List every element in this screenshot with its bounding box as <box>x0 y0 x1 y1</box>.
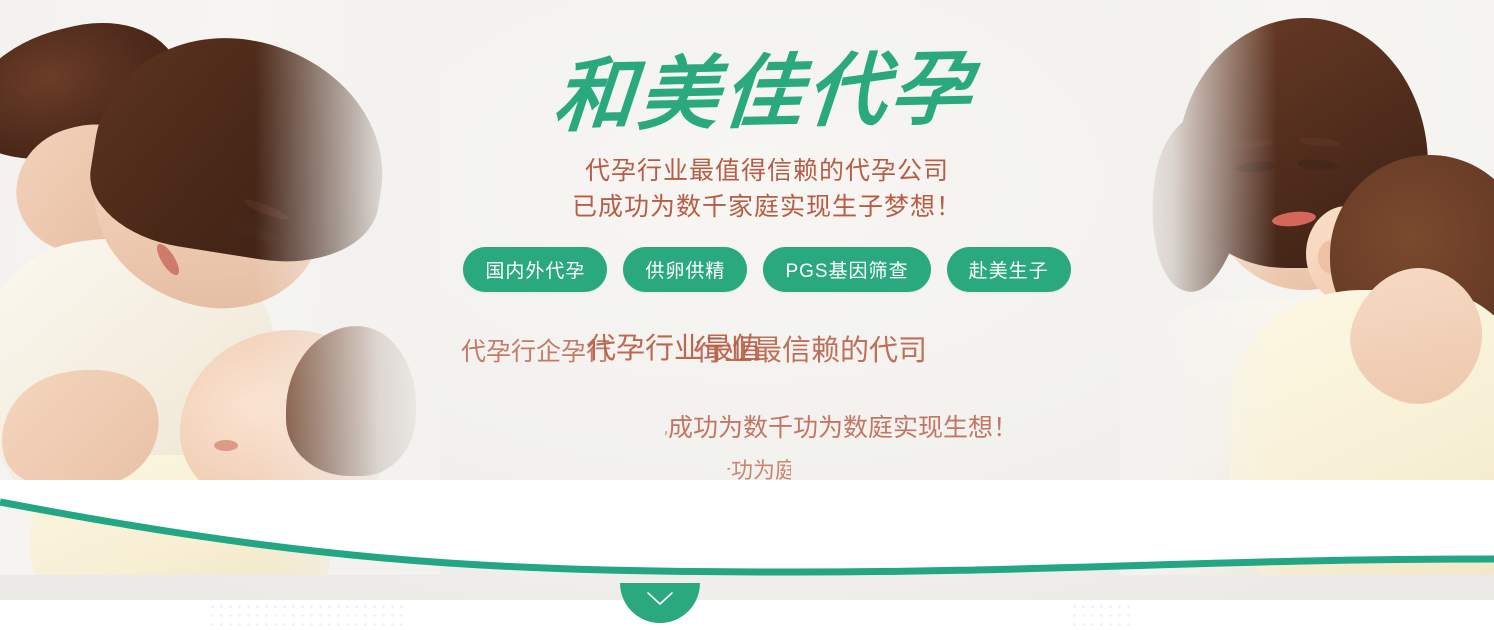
dot-pattern-right <box>1070 584 1132 630</box>
pill-egg-sperm-donation[interactable]: 供卵供精 <box>623 247 747 292</box>
chevron-down-icon <box>646 590 674 608</box>
pill-pgs-genetic-screening[interactable]: PGS基因筛查 <box>763 247 930 292</box>
ghost-text-row-1: 代孕行企孕行 <box>461 336 611 370</box>
hero-banner: 和美佳代孕 代孕行业最值得信赖的代孕公司 已成功为数千家庭实现生子梦想！ 国内外… <box>0 0 1494 630</box>
page-title: 和美佳代孕 <box>441 0 1093 139</box>
tagline-line-1: 代孕行业最值得信赖的代孕公司 <box>447 154 1087 190</box>
pill-us-birth[interactable]: 赴美生子 <box>947 247 1071 292</box>
ghost-text-row-4: 已成功为数千功为数庭实现生想！ <box>643 412 1018 446</box>
tagline: 代孕行业最值得信赖的代孕公司 已成功为数千家庭实现生子梦想！ <box>447 154 1087 225</box>
dot-pattern-left <box>208 584 408 630</box>
tagline-line-2: 已成功为数千家庭实现生子梦想！ <box>447 190 1087 226</box>
pill-domestic-overseas-surrogacy[interactable]: 国内外代孕 <box>463 247 607 292</box>
ghost-text-row-3: 行业最信赖的代司 <box>695 332 927 371</box>
ghost-text-row-2: 代孕行业最值 <box>587 330 761 369</box>
service-pill-row: 国内外代孕 供卵供精 PGS基因筛查 赴美生子 <box>447 247 1087 292</box>
